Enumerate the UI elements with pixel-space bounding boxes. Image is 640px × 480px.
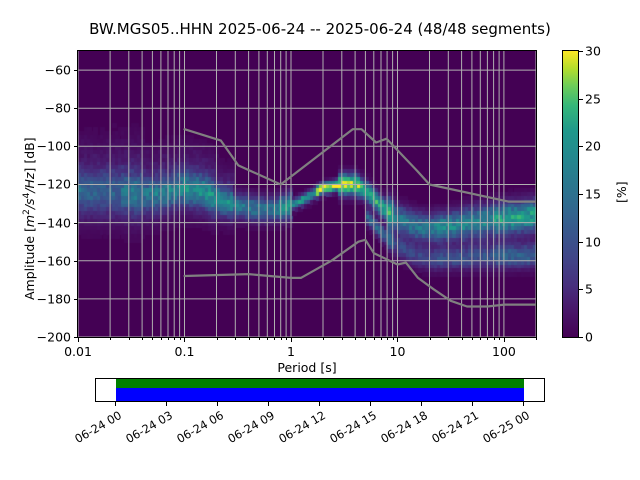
coverage-bar-blue	[116, 388, 524, 401]
x-tick-mark-minor	[217, 337, 218, 340]
x-tick-mark-minor	[430, 337, 431, 340]
x-tick-label: 100	[492, 344, 516, 359]
x-tick-label: 1	[287, 344, 295, 359]
colorbar-tick-mark	[579, 337, 583, 338]
x-tick-label: 0.1	[175, 344, 195, 359]
y-tick-label: −80	[0, 101, 71, 116]
x-tick-mark-minor	[249, 337, 250, 340]
x-tick-mark-major	[78, 337, 79, 342]
x-tick-mark-minor	[448, 337, 449, 340]
colorbar-tick-label: 15	[585, 187, 601, 202]
x-tick-mark-major	[184, 337, 185, 342]
timeline-tick-mark	[421, 402, 422, 406]
x-tick-mark-minor	[281, 337, 282, 340]
colorbar-tick-label: 30	[585, 44, 601, 59]
noise-model-curves	[78, 51, 536, 337]
colorbar-tick-mark	[579, 146, 583, 147]
x-tick-mark-minor	[110, 337, 111, 340]
x-tick-mark-minor	[323, 337, 324, 340]
x-tick-mark-minor	[480, 337, 481, 340]
ppsd-plot-area	[78, 51, 536, 337]
colorbar-label: [%]	[614, 181, 629, 203]
timeline-tick-mark	[115, 402, 116, 406]
timeline-tick-mark	[370, 402, 371, 406]
x-tick-mark-minor	[142, 337, 143, 340]
x-tick-mark-minor	[374, 337, 375, 340]
x-tick-mark-minor	[387, 337, 388, 340]
colorbar-tick-mark	[579, 289, 583, 290]
colorbar-tick-mark	[579, 194, 583, 195]
x-tick-mark-minor	[174, 337, 175, 340]
x-tick-mark-major	[397, 337, 398, 342]
colorbar-tick-label: 5	[585, 282, 593, 297]
x-tick-mark-minor	[274, 337, 275, 340]
x-tick-mark-minor	[180, 337, 181, 340]
y-axis-label: Amplitude [m2/s4/Hz] [dB]	[22, 137, 37, 300]
x-tick-mark-minor	[462, 337, 463, 340]
x-tick-mark-minor	[342, 337, 343, 340]
plot-title: BW.MGS05..HHN 2025-06-24 -- 2025-06-24 (…	[0, 20, 640, 38]
y-tick-mark	[74, 184, 78, 185]
y-tick-mark	[74, 299, 78, 300]
y-tick-label: −60	[0, 63, 71, 78]
timeline-tick-label: 06-24 18	[369, 408, 430, 451]
ppsd-axes	[77, 50, 537, 338]
x-axis-label: Period [s]	[77, 360, 537, 375]
colorbar-tick-label: 0	[585, 330, 593, 345]
x-tick-mark-minor	[472, 337, 473, 340]
ppsd-figure: BW.MGS05..HHN 2025-06-24 -- 2025-06-24 (…	[0, 0, 640, 480]
timeline-tick-mark	[472, 402, 473, 406]
colorbar-tick-label: 20	[585, 139, 601, 154]
y-tick-mark	[74, 223, 78, 224]
timeline-tick-mark	[217, 402, 218, 406]
colorbar-tick-label: 25	[585, 91, 601, 106]
x-tick-mark-minor	[381, 337, 382, 340]
timeline-tick-mark	[523, 402, 524, 406]
x-tick-mark-minor	[487, 337, 488, 340]
x-tick-mark-minor	[152, 337, 153, 340]
x-tick-mark-minor	[365, 337, 366, 340]
x-tick-mark-major	[504, 337, 505, 342]
timeline-tick-label: 06-24 03	[114, 408, 175, 451]
timeline-tick-mark	[319, 402, 320, 406]
timeline-tick-label: 06-24 09	[216, 408, 277, 451]
colorbar-tick-mark	[579, 51, 583, 52]
y-tick-mark	[74, 146, 78, 147]
timeline-tick-label: 06-24 15	[318, 408, 379, 451]
timeline-tick-mark	[268, 402, 269, 406]
timeline-tick-mark	[166, 402, 167, 406]
x-tick-mark-minor	[267, 337, 268, 340]
timeline-tick-label: 06-25 00	[471, 408, 532, 451]
x-tick-mark-minor	[494, 337, 495, 340]
x-tick-mark-minor	[259, 337, 260, 340]
x-tick-mark-minor	[129, 337, 130, 340]
colorbar-tick-mark	[579, 242, 583, 243]
colorbar-tick-label: 10	[585, 234, 601, 249]
coverage-timeline[interactable]	[95, 378, 545, 402]
x-tick-label: 0.01	[64, 344, 92, 359]
colorbar-tick-mark	[579, 99, 583, 100]
x-tick-mark-minor	[355, 337, 356, 340]
x-tick-mark-minor	[235, 337, 236, 340]
x-tick-mark-minor	[393, 337, 394, 340]
y-tick-mark	[74, 108, 78, 109]
x-tick-mark-minor	[168, 337, 169, 340]
timeline-tick-label: 06-24 12	[267, 408, 328, 451]
x-tick-mark-minor	[499, 337, 500, 340]
x-tick-mark-minor	[161, 337, 162, 340]
colorbar	[562, 50, 579, 338]
x-tick-mark-minor	[536, 337, 537, 340]
x-tick-mark-minor	[286, 337, 287, 340]
x-tick-label: 10	[390, 344, 406, 359]
timeline-tick-label: 06-24 06	[165, 408, 226, 451]
y-tick-label: −200	[0, 330, 71, 345]
coverage-bar-green	[116, 379, 524, 388]
x-tick-mark-major	[291, 337, 292, 342]
timeline-tick-label: 06-24 21	[420, 408, 481, 451]
timeline-tick-label: 06-24 00	[63, 408, 124, 451]
y-tick-mark	[74, 70, 78, 71]
y-tick-mark	[74, 261, 78, 262]
